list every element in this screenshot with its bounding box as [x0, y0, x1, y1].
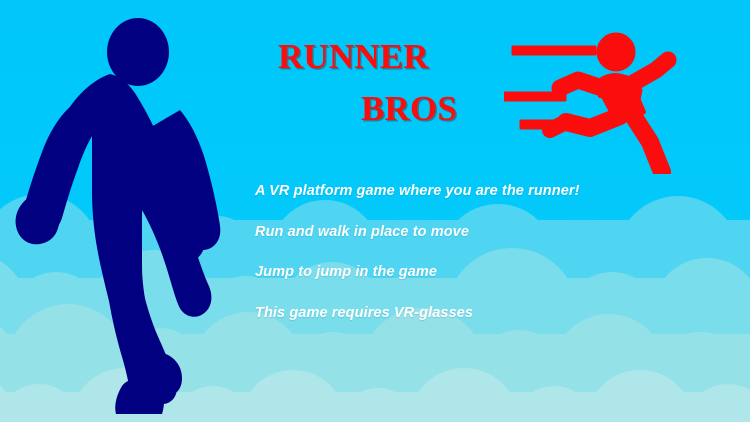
- running-man-icon: [504, 24, 694, 174]
- runner-silhouette: [10, 14, 260, 414]
- feature-list: A VR platform game where you are the run…: [255, 182, 655, 322]
- feature-item: Jump to jump in the game: [255, 263, 655, 282]
- feature-item: Run and walk in place to move: [255, 223, 655, 242]
- promo-screen: Runner Bros: [0, 0, 750, 422]
- feature-item: This game requires VR-glasses: [255, 304, 655, 323]
- speed-line-1: [512, 46, 596, 55]
- game-logo: Runner Bros: [268, 26, 688, 166]
- feature-item: A VR platform game where you are the run…: [255, 182, 610, 201]
